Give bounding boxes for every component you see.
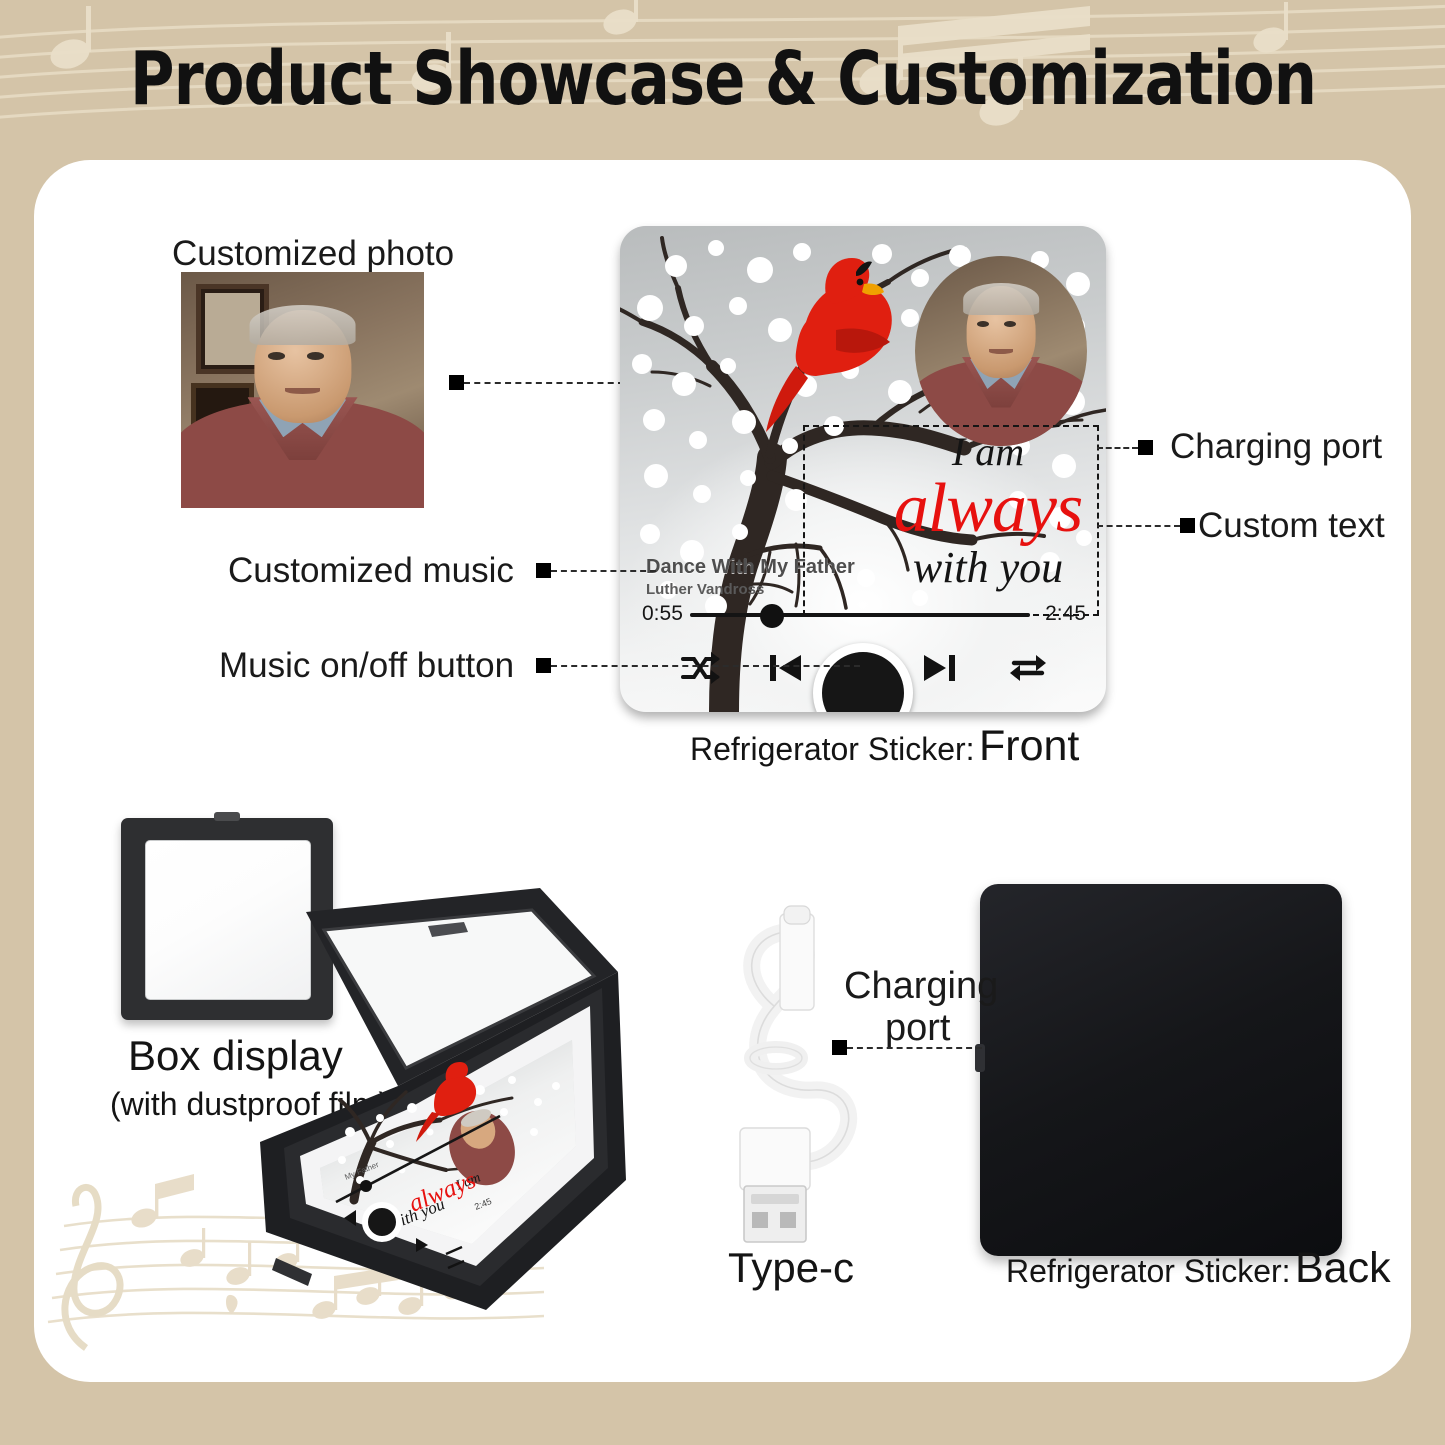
front-caption: Refrigerator Sticker: Front <box>690 722 1079 771</box>
photo-connector-line <box>464 382 624 384</box>
music-onoff-marker <box>536 658 551 673</box>
progress-knob[interactable] <box>760 604 784 628</box>
song-title: Dance With My Father <box>646 556 855 579</box>
device-back-preview <box>980 884 1342 1256</box>
repeat-icon[interactable] <box>1006 646 1050 690</box>
song-artist: Luther Vandross <box>646 581 764 598</box>
customized-music-line <box>551 570 656 572</box>
charging-port-back-marker <box>832 1040 847 1055</box>
custom-text-line <box>1097 525 1180 527</box>
previous-track-icon[interactable] <box>763 646 807 690</box>
back-caption-value: Back <box>1295 1244 1391 1292</box>
photo-connector-marker <box>449 375 464 390</box>
device-front-preview: I am always with you Dance With My Fathe… <box>620 226 1106 712</box>
custom-text-label: Custom text <box>1198 506 1385 546</box>
charging-port-back-label-line1: Charging <box>844 965 998 1008</box>
type-c-label: Type-c <box>728 1244 854 1291</box>
customized-music-marker <box>536 563 551 578</box>
customized-photo-label: Customized photo <box>172 234 454 274</box>
page-title: Product Showcase & Customization <box>130 36 1315 122</box>
page-header: Product Showcase & Customization <box>0 0 1445 160</box>
device-photo-circle <box>915 256 1087 446</box>
time-total: 2:45 <box>1045 602 1086 626</box>
cardinal-bird-icon <box>766 258 892 432</box>
charging-port-front-label: Charging port <box>1170 427 1382 467</box>
music-onoff-line <box>551 665 860 667</box>
charging-port-back-line <box>847 1047 982 1049</box>
customized-photo-thumbnail <box>181 272 424 508</box>
front-caption-prefix: Refrigerator Sticker: <box>690 731 975 767</box>
type-c-caption: Type-c <box>728 1244 854 1292</box>
charging-port-front-line <box>1097 447 1138 449</box>
portrait-image <box>181 272 424 508</box>
back-caption: Refrigerator Sticker: Back <box>1006 1244 1391 1293</box>
customized-music-label: Customized music <box>228 551 514 591</box>
back-caption-prefix: Refrigerator Sticker: <box>1006 1253 1291 1289</box>
shuffle-icon[interactable] <box>678 646 722 690</box>
time-elapsed: 0:55 <box>642 602 683 626</box>
next-track-icon[interactable] <box>918 646 962 690</box>
charging-port-back-label-line2: port <box>885 1007 950 1050</box>
front-caption-value: Front <box>979 722 1079 770</box>
charging-port-front-marker <box>1138 440 1153 455</box>
box-tab <box>214 812 240 821</box>
music-onoff-label: Music on/off button <box>219 646 514 686</box>
usb-type-c-cable <box>718 900 868 1250</box>
custom-text-marker <box>1180 518 1195 533</box>
box-open-preview: I am always with you 2:45 My Father <box>250 880 640 1350</box>
progress-bar[interactable] <box>690 613 1030 617</box>
custom-text-selection-box <box>803 425 1099 616</box>
